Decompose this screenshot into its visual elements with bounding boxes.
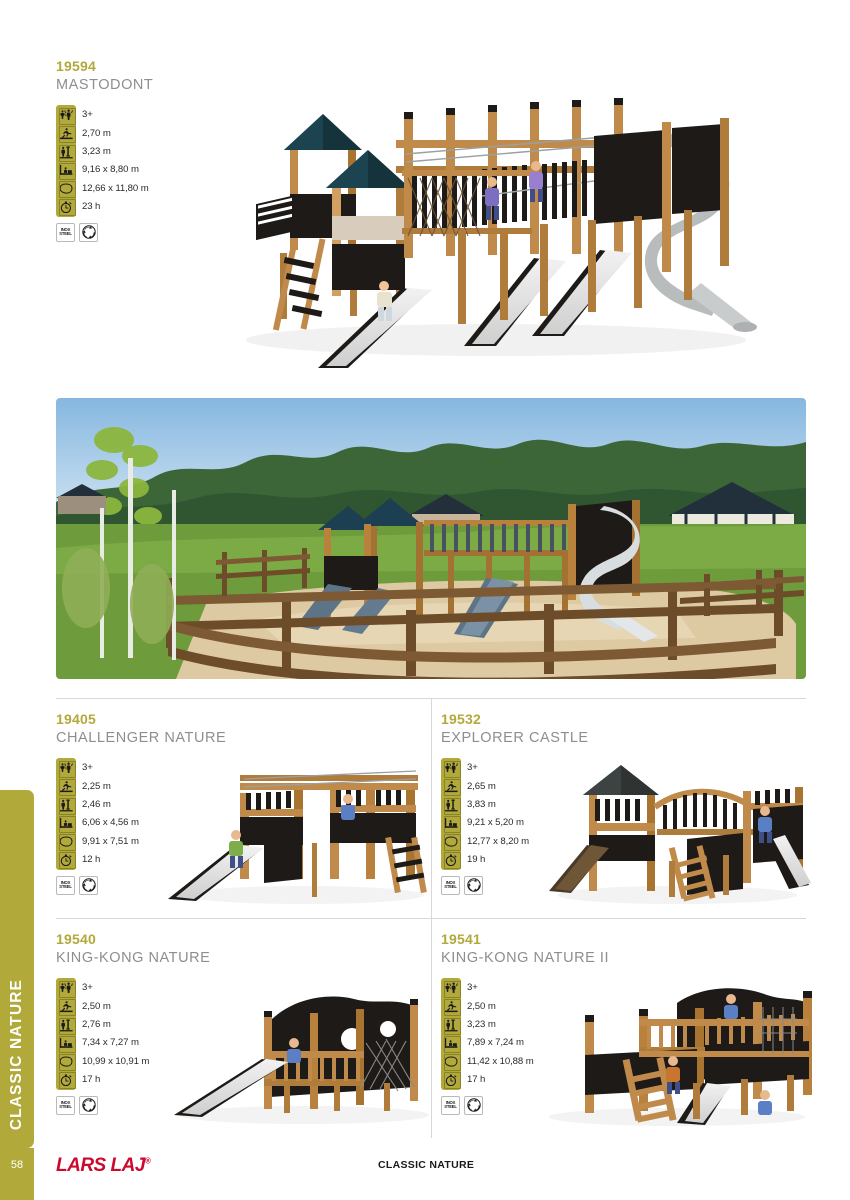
installation-photo: [56, 398, 806, 679]
age-group-icon: [441, 980, 461, 997]
hero-product-image: [196, 78, 796, 378]
spec-row-safety-zone: 12,66 x 11,80 m: [56, 180, 76, 198]
spec-value-fall-height: 2,50 m: [467, 998, 496, 1016]
product-card-19540: 19540 KING-KONG NATURE 3+ 2,50 m: [56, 919, 431, 1138]
product-image-19540: [144, 963, 434, 1133]
product-image-19541: [527, 963, 817, 1133]
catalog-page: 19594 MASTODONT 3+ 2,70 m: [56, 0, 808, 1200]
inox-steel-line2: STEEL: [59, 232, 72, 237]
spec-value-fall-height: 2,50 m: [82, 998, 111, 1016]
spec-row-equipment-height: 3,83 m: [441, 796, 461, 814]
fall-height-icon: [441, 998, 461, 1015]
recycling-badge: [464, 876, 483, 895]
spec-value-dimensions: 7,34 x 7,27 m: [82, 1034, 139, 1052]
footer-section-label: CLASSIC NATURE: [378, 1159, 474, 1171]
spec-icon-column: 3+ 2,50 m 3,23 m: [441, 978, 461, 1090]
spec-value-dimensions: 6,06 x 4,56 m: [82, 814, 139, 832]
product-card-19532: 19532 EXPLORER CASTLE 3+ 2,65 m: [431, 699, 806, 918]
inox-steel-badge: INOX STEEL: [56, 876, 75, 895]
spec-value-install-time: 12 h: [82, 851, 100, 869]
inox-steel-line2: STEEL: [444, 885, 457, 890]
safety-zone-icon: [441, 1053, 461, 1070]
install-time-icon: [56, 198, 76, 215]
dimensions-icon: [441, 1035, 461, 1052]
spec-row-dimensions: 6,06 x 4,56 m: [56, 814, 76, 832]
spec-row-safety-zone: 10,99 x 10,91 m: [56, 1053, 76, 1071]
spec-value-age: 3+: [82, 979, 93, 997]
certification-badges: INOX STEEL: [56, 223, 216, 242]
spec-row-age: 3+: [56, 106, 76, 124]
inox-steel-line2: STEEL: [59, 885, 72, 890]
spec-value-fall-height: 2,70 m: [82, 125, 111, 143]
spec-row-fall-height: 2,70 m: [56, 125, 76, 143]
age-group-icon: [56, 760, 76, 777]
spec-row-install-time: 23 h: [56, 198, 76, 216]
product-code: 19532: [441, 711, 591, 729]
product-code: 19540: [56, 931, 206, 949]
safety-zone-icon: [56, 180, 76, 197]
spec-row-fall-height: 2,65 m: [441, 778, 461, 796]
inox-steel-badge: INOX STEEL: [441, 1096, 460, 1115]
safety-zone-icon: [441, 833, 461, 850]
spec-value-safety-zone: 11,42 x 10,88 m: [467, 1053, 534, 1071]
spec-value-install-time: 17 h: [467, 1071, 485, 1089]
age-group-icon: [441, 760, 461, 777]
product-card-19405: 19405 CHALLENGER NATURE 3+ 2,25 m: [56, 699, 431, 918]
spec-row-age: 3+: [56, 759, 76, 777]
install-time-icon: [441, 851, 461, 868]
recycling-badge: [79, 223, 98, 242]
spec-icon-column: 3+ 2,25 m 2,46 m: [56, 758, 76, 870]
product-code: 19594: [56, 58, 216, 76]
spec-value-safety-zone: 9,91 x 7,51 m: [82, 833, 139, 851]
hero-product-19594: 19594 MASTODONT 3+ 2,70 m: [56, 0, 808, 330]
install-time-icon: [441, 1071, 461, 1088]
section-tab-label: CLASSIC NATURE: [8, 979, 26, 1130]
product-name: MASTODONT: [56, 76, 216, 95]
dimensions-icon: [56, 162, 76, 179]
recycling-badge: [464, 1096, 483, 1115]
spec-row-dimensions: 9,21 x 5,20 m: [441, 814, 461, 832]
product-code: 19405: [56, 711, 206, 729]
spec-value-install-time: 23 h: [82, 198, 100, 216]
recycling-badge: [79, 1096, 98, 1115]
page-number-block: 58: [0, 1148, 34, 1200]
product-image-19532: [527, 743, 817, 913]
inox-steel-badge: INOX STEEL: [56, 1096, 75, 1115]
spec-row-age: 3+: [441, 979, 461, 997]
fall-height-icon: [56, 125, 76, 142]
spec-row-fall-height: 2,50 m: [441, 998, 461, 1016]
equipment-height-icon: [56, 144, 76, 161]
spec-value-safety-zone: 12,77 x 8,20 m: [467, 833, 529, 851]
hero-info: 19594 MASTODONT 3+ 2,70 m: [56, 58, 216, 242]
spec-block: 3+ 2,70 m 3,23 m: [56, 105, 216, 242]
safety-zone-icon: [56, 1053, 76, 1070]
spec-row-install-time: 17 h: [56, 1071, 76, 1089]
spec-value-equipment-height: 2,46 m: [82, 796, 111, 814]
spec-row-dimensions: 7,89 x 7,24 m: [441, 1034, 461, 1052]
brand-logo-text: LARS LAJ: [56, 1155, 145, 1176]
product-code: 19541: [441, 931, 591, 949]
spec-value-age: 3+: [467, 979, 478, 997]
spec-row-fall-height: 2,25 m: [56, 778, 76, 796]
spec-value-install-time: 19 h: [467, 851, 485, 869]
equipment-height-icon: [56, 797, 76, 814]
spec-row-dimensions: 9,16 x 8,80 m: [56, 161, 76, 179]
spec-icon-column: 3+ 2,70 m 3,23 m: [56, 105, 76, 217]
spec-value-age: 3+: [82, 759, 93, 777]
page-number: 58: [11, 1159, 23, 1171]
product-row-1: 19405 CHALLENGER NATURE 3+ 2,25 m: [56, 698, 806, 918]
dimensions-icon: [56, 815, 76, 832]
spec-row-equipment-height: 2,46 m: [56, 796, 76, 814]
spec-row-age: 3+: [441, 759, 461, 777]
fall-height-icon: [441, 778, 461, 795]
product-image-19405: [144, 743, 434, 913]
inox-steel-badge: INOX STEEL: [441, 876, 460, 895]
fall-height-icon: [56, 998, 76, 1015]
spec-row-install-time: 12 h: [56, 851, 76, 869]
spec-value-dimensions: 9,21 x 5,20 m: [467, 814, 524, 832]
spec-value-fall-height: 2,65 m: [467, 778, 496, 796]
spec-row-equipment-height: 3,23 m: [441, 1016, 461, 1034]
spec-row-install-time: 17 h: [441, 1071, 461, 1089]
spec-row-safety-zone: 11,42 x 10,88 m: [441, 1053, 461, 1071]
spec-value-dimensions: 9,16 x 8,80 m: [82, 161, 139, 179]
spec-icon-column: 3+ 2,50 m 2,76 m: [56, 978, 76, 1090]
equipment-height-icon: [441, 797, 461, 814]
safety-zone-icon: [56, 833, 76, 850]
spec-row-age: 3+: [56, 979, 76, 997]
brand-logo-mark: ®: [145, 1157, 150, 1166]
spec-value-install-time: 17 h: [82, 1071, 100, 1089]
spec-value-equipment-height: 3,83 m: [467, 796, 496, 814]
spec-value-safety-zone: 12,66 x 11,80 m: [82, 180, 149, 198]
dimensions-icon: [441, 815, 461, 832]
spec-row-safety-zone: 9,91 x 7,51 m: [56, 833, 76, 851]
age-group-icon: [56, 980, 76, 997]
spec-row-equipment-height: 2,76 m: [56, 1016, 76, 1034]
inox-steel-line2: STEEL: [444, 1105, 457, 1110]
spec-row-dimensions: 7,34 x 7,27 m: [56, 1034, 76, 1052]
product-grid: 19405 CHALLENGER NATURE 3+ 2,25 m: [56, 698, 806, 1138]
equipment-height-icon: [56, 1017, 76, 1034]
brand-logo: LARS LAJ®: [56, 1155, 150, 1177]
install-time-icon: [56, 1071, 76, 1088]
age-group-icon: [56, 107, 76, 124]
spec-value-equipment-height: 2,76 m: [82, 1016, 111, 1034]
product-row-2: 19540 KING-KONG NATURE 3+ 2,50 m: [56, 918, 806, 1138]
product-card-19541: 19541 KING-KONG NATURE II 3+ 2,50 m: [431, 919, 806, 1138]
install-time-icon: [56, 851, 76, 868]
fall-height-icon: [56, 778, 76, 795]
spec-value-age: 3+: [467, 759, 478, 777]
inox-steel-badge: INOX STEEL: [56, 223, 75, 242]
spec-value-equipment-height: 3,23 m: [82, 143, 111, 161]
inox-steel-line2: STEEL: [59, 1105, 72, 1110]
spec-value-safety-zone: 10,99 x 10,91 m: [82, 1053, 149, 1071]
section-tab-classic-nature: CLASSIC NATURE: [0, 790, 34, 1148]
spec-icon-column: 3+ 2,65 m 3,83 m: [441, 758, 461, 870]
spec-row-equipment-height: 3,23 m: [56, 143, 76, 161]
recycling-badge: [79, 876, 98, 895]
spec-value-equipment-height: 3,23 m: [467, 1016, 496, 1034]
spec-row-fall-height: 2,50 m: [56, 998, 76, 1016]
spec-value-dimensions: 7,89 x 7,24 m: [467, 1034, 524, 1052]
dimensions-icon: [56, 1035, 76, 1052]
spec-value-fall-height: 2,25 m: [82, 778, 111, 796]
spec-value-age: 3+: [82, 106, 93, 124]
equipment-height-icon: [441, 1017, 461, 1034]
spec-row-safety-zone: 12,77 x 8,20 m: [441, 833, 461, 851]
spec-row-install-time: 19 h: [441, 851, 461, 869]
